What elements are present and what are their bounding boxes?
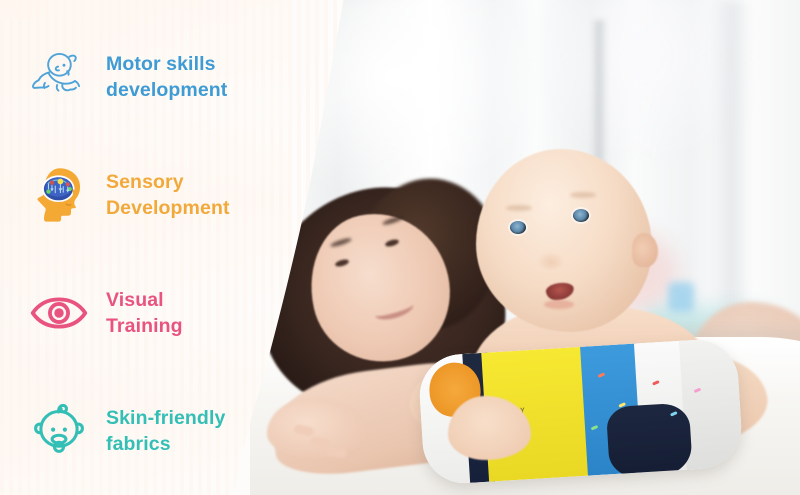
baby-eyebrow-left	[506, 205, 532, 211]
baby-face-pacifier-icon	[26, 398, 92, 464]
background-blue-object	[668, 282, 694, 312]
feature-item-visual-training[interactable]: Visual Training	[0, 254, 300, 372]
crawling-baby-icon	[26, 44, 92, 110]
background-panel	[712, 0, 752, 347]
feature-label-motor-skills: Motor skills development	[106, 51, 227, 103]
feature-item-skin-friendly-fabrics[interactable]: Skin-friendly fabrics	[0, 372, 300, 490]
feature-label-skin-friendly-fabrics: Skin-friendly fabrics	[106, 405, 225, 457]
feature-item-motor-skills[interactable]: Motor skills development	[0, 18, 300, 136]
feature-item-sensory-development[interactable]: Sensory Development	[0, 136, 300, 254]
feature-list: Motor skills development	[0, 0, 300, 495]
feature-label-visual-training: Visual Training	[106, 287, 183, 339]
feature-label-sensory-development: Sensory Development	[106, 169, 230, 221]
lifestyle-photo: HAPPY	[250, 0, 800, 495]
baby-lower-lip	[544, 300, 574, 309]
pillow-navy-shape	[605, 402, 692, 479]
baby-eye-left	[510, 221, 526, 234]
product-benefits-banner: HAPPY	[0, 0, 800, 495]
eye-icon	[26, 280, 92, 346]
brain-head-icon	[26, 162, 92, 228]
